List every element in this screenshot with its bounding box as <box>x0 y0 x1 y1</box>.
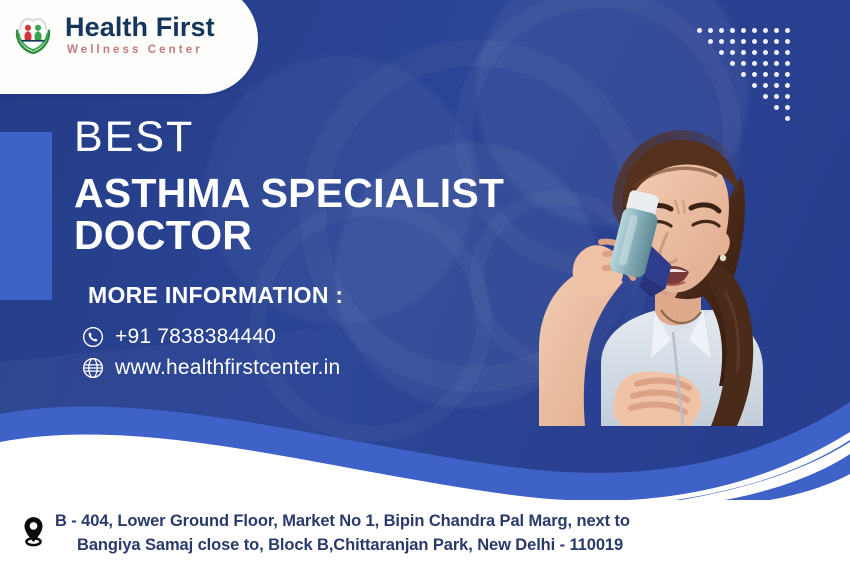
logo-container: Health First Wellness Center <box>0 0 258 94</box>
decorative-dot <box>774 28 779 33</box>
headline-line-2: DOCTOR <box>74 214 544 256</box>
decorative-dot <box>785 61 790 66</box>
decorative-dot <box>774 39 779 44</box>
address-bar: B - 404, Lower Ground Floor, Market No 1… <box>0 500 850 567</box>
decorative-dot <box>763 50 768 55</box>
decorative-dot <box>719 50 724 55</box>
decorative-dot <box>785 83 790 88</box>
decorative-dot <box>719 83 724 88</box>
decorative-dot <box>752 72 757 77</box>
decorative-dot <box>697 83 702 88</box>
decorative-dot <box>752 39 757 44</box>
decorative-dot <box>708 61 713 66</box>
decorative-dot <box>763 39 768 44</box>
decorative-dot <box>697 72 702 77</box>
decorative-dot <box>708 50 713 55</box>
decorative-dot <box>785 28 790 33</box>
left-accent-rectangle <box>0 132 52 300</box>
decorative-dot <box>719 72 724 77</box>
decorative-dot <box>763 83 768 88</box>
headline-line-1: ASTHMA SPECIALIST <box>74 172 544 214</box>
phone-row[interactable]: +91 7838384440 <box>82 325 544 349</box>
decorative-dot <box>741 61 746 66</box>
decorative-dot <box>730 83 735 88</box>
asthma-specialist-banner: Health First Wellness Center <box>0 0 850 567</box>
brand-tagline: Wellness Center <box>65 45 215 57</box>
decorative-dot <box>697 28 702 33</box>
more-information-label: MORE INFORMATION : <box>74 282 544 309</box>
decorative-dot <box>785 72 790 77</box>
decorative-dot <box>752 61 757 66</box>
dot-row <box>697 61 796 72</box>
decorative-dot <box>708 72 713 77</box>
decorative-dot <box>697 61 702 66</box>
decorative-dot <box>730 50 735 55</box>
decorative-dot <box>741 28 746 33</box>
phone-circle-icon <box>82 326 104 348</box>
decorative-dot <box>763 61 768 66</box>
decorative-dot <box>719 39 724 44</box>
eyebrow-text: BEST <box>74 116 544 159</box>
decorative-dot <box>785 39 790 44</box>
decorative-dot <box>741 72 746 77</box>
phone-number: +91 7838384440 <box>115 325 276 349</box>
decorative-dot <box>719 28 724 33</box>
decorative-dot <box>763 72 768 77</box>
decorative-dot <box>730 28 735 33</box>
wave-decoration <box>0 370 850 510</box>
decorative-dot <box>730 72 735 77</box>
location-pin-icon <box>22 516 45 552</box>
decorative-dot <box>752 28 757 33</box>
hero-copy: BEST ASTHMA SPECIALIST DOCTOR MORE INFOR… <box>74 116 544 387</box>
decorative-dot <box>752 83 757 88</box>
decorative-dot <box>708 83 713 88</box>
decorative-dot <box>708 28 713 33</box>
decorative-dot <box>741 39 746 44</box>
brand-name: Health First <box>65 14 215 41</box>
decorative-dot <box>730 61 735 66</box>
decorative-dot <box>708 39 713 44</box>
dot-row <box>697 28 796 39</box>
heart-leaf-family-icon <box>10 12 56 58</box>
decorative-dot <box>730 39 735 44</box>
decorative-dot <box>741 83 746 88</box>
decorative-dot <box>774 72 779 77</box>
dot-row <box>697 72 796 83</box>
address-line-2: Bangiya Samaj close to, Block B,Chittara… <box>55 534 630 557</box>
decorative-dot <box>774 50 779 55</box>
decorative-dot <box>774 83 779 88</box>
decorative-dot <box>763 28 768 33</box>
decorative-dot <box>697 39 702 44</box>
dot-row <box>697 39 796 50</box>
decorative-dot <box>697 50 702 55</box>
decorative-dot <box>785 50 790 55</box>
decorative-dot <box>741 50 746 55</box>
decorative-dot <box>719 61 724 66</box>
decorative-dot <box>774 61 779 66</box>
address-line-1: B - 404, Lower Ground Floor, Market No 1… <box>55 510 630 533</box>
dot-row <box>697 83 796 94</box>
decorative-dot <box>752 50 757 55</box>
dot-row <box>697 50 796 61</box>
